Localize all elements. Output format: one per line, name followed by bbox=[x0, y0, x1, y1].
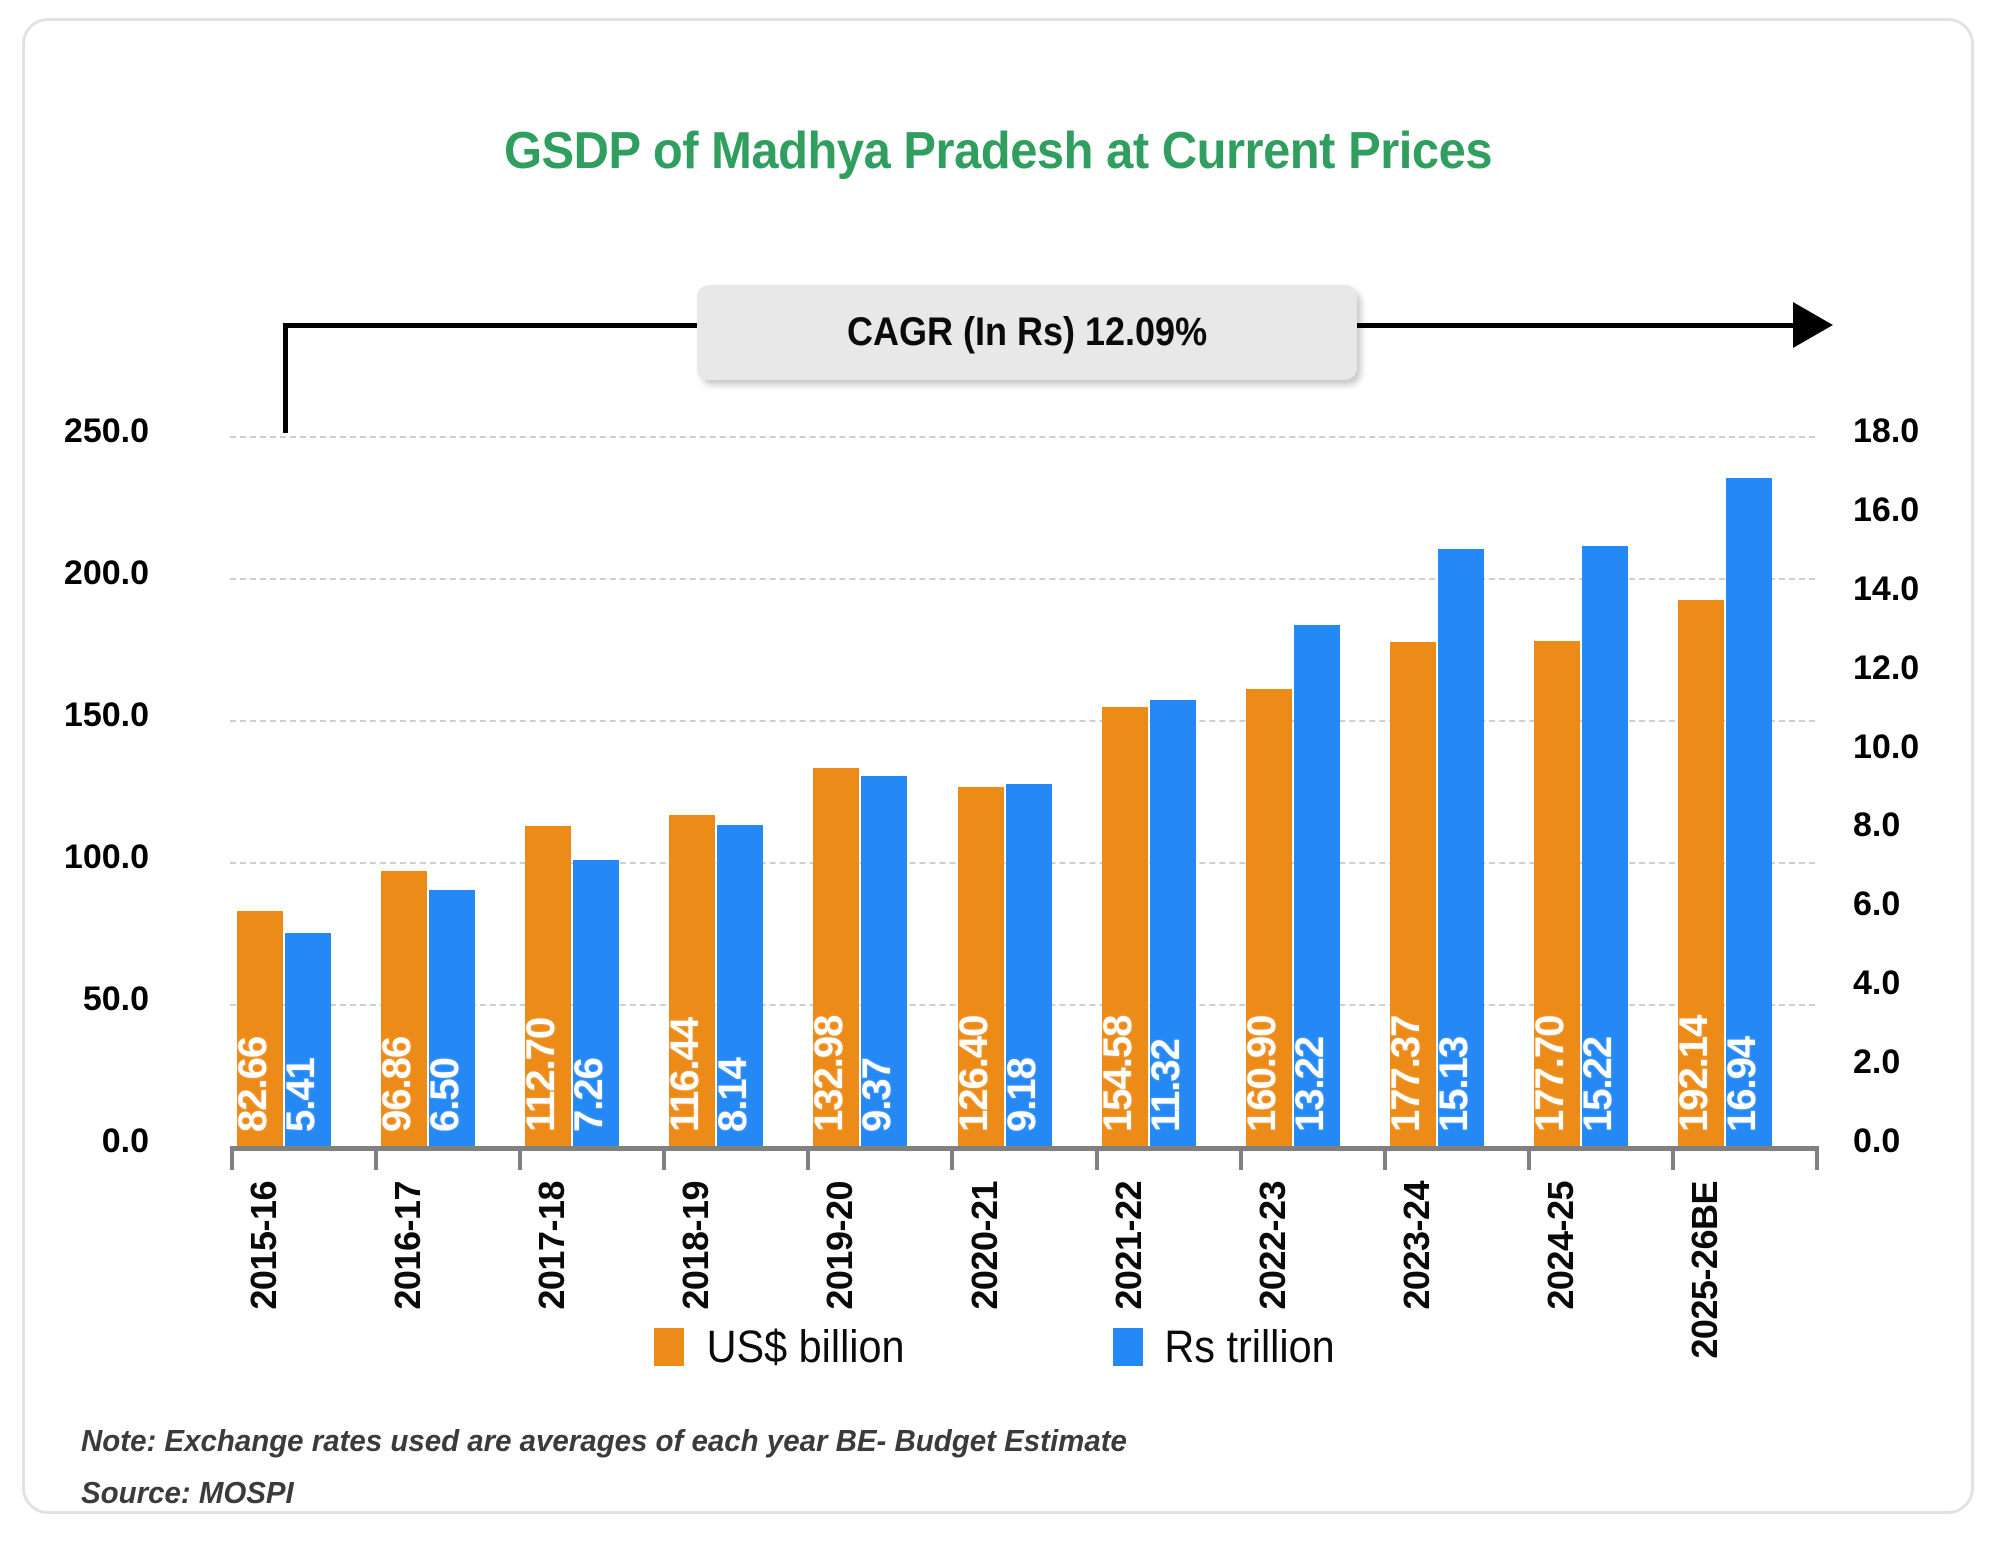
bar-value-label: 6.50 bbox=[423, 1058, 468, 1132]
bar-usd[interactable]: 177.37 bbox=[1390, 642, 1436, 1146]
bar-value-label: 126.40 bbox=[952, 1016, 997, 1132]
bar-group: 132.989.37 bbox=[813, 436, 907, 1146]
x-axis-tick bbox=[806, 1146, 810, 1170]
bar-group: 126.409.18 bbox=[958, 436, 1052, 1146]
bar-rs[interactable]: 9.18 bbox=[1006, 784, 1052, 1146]
bar-value-label: 160.90 bbox=[1240, 1016, 1285, 1132]
bar-value-label: 16.94 bbox=[1720, 1037, 1765, 1132]
bar-rs[interactable]: 11.32 bbox=[1150, 700, 1196, 1147]
y-axis-left-tick-label: 50.0 bbox=[83, 980, 149, 1019]
bar-group: 177.3715.13 bbox=[1390, 436, 1484, 1146]
x-axis-tick bbox=[374, 1146, 378, 1170]
y-axis-right-tick-label: 0.0 bbox=[1853, 1122, 1900, 1161]
bar-group: 177.7015.22 bbox=[1534, 436, 1628, 1146]
bar-value-label: 96.86 bbox=[375, 1037, 420, 1132]
footnote-source: Source: MOSPI bbox=[81, 1475, 1127, 1511]
x-axis-tick-label: 2016-17 bbox=[387, 1181, 433, 1310]
y-axis-right-tick-label: 6.0 bbox=[1853, 885, 1900, 924]
bar-rs[interactable]: 6.50 bbox=[429, 890, 475, 1146]
bar-group: 112.707.26 bbox=[525, 436, 619, 1146]
bar-group: 192.1416.94 bbox=[1678, 436, 1772, 1146]
bar-group: 82.665.41 bbox=[237, 436, 331, 1146]
y-axis-left-tick-label: 200.0 bbox=[64, 554, 149, 593]
bar-rs[interactable]: 15.13 bbox=[1438, 549, 1484, 1146]
bar-value-label: 112.70 bbox=[519, 1018, 564, 1132]
legend-item-usd[interactable]: US$ billion bbox=[654, 1321, 913, 1373]
y-axis-right-tick-label: 4.0 bbox=[1853, 964, 1900, 1003]
chart-card: GSDP of Madhya Pradesh at Current Prices… bbox=[22, 18, 1974, 1514]
x-axis-tick-label: 2022-23 bbox=[1252, 1181, 1298, 1310]
bar-rs[interactable]: 7.26 bbox=[573, 860, 619, 1146]
footnote-note: Note: Exchange rates used are averages o… bbox=[81, 1423, 1127, 1459]
y-axis-right-tick-label: 18.0 bbox=[1853, 412, 1919, 451]
bar-value-label: 5.41 bbox=[279, 1058, 324, 1132]
bar-usd[interactable]: 160.90 bbox=[1246, 689, 1292, 1146]
y-axis-left-tick-label: 100.0 bbox=[64, 838, 149, 877]
legend-item-rs[interactable]: Rs trillion bbox=[1113, 1321, 1342, 1373]
bar-group: 160.9013.22 bbox=[1246, 436, 1340, 1146]
bar-value-label: 192.14 bbox=[1672, 1016, 1717, 1132]
footer: Note: Exchange rates used are averages o… bbox=[81, 1423, 1182, 1527]
bar-group: 96.866.50 bbox=[381, 436, 475, 1146]
bar-value-label: 9.18 bbox=[1000, 1058, 1045, 1132]
y-axis-right-tick-label: 10.0 bbox=[1853, 728, 1919, 767]
y-axis-right-tick-label: 2.0 bbox=[1853, 1043, 1900, 1082]
x-axis-tick bbox=[1239, 1146, 1243, 1170]
x-axis-line bbox=[230, 1146, 1817, 1151]
y-axis-left-tick-label: 0.0 bbox=[102, 1122, 149, 1161]
y-axis-right-tick-label: 16.0 bbox=[1853, 491, 1919, 530]
bar-usd[interactable]: 154.58 bbox=[1102, 707, 1148, 1146]
bar-value-label: 177.70 bbox=[1528, 1016, 1573, 1132]
x-axis-tick-label: 2021-22 bbox=[1108, 1181, 1154, 1310]
y-axis-right-tick-label: 14.0 bbox=[1853, 570, 1919, 609]
x-axis-tick-label: 2020-21 bbox=[964, 1181, 1010, 1310]
bar-value-label: 8.14 bbox=[711, 1058, 756, 1132]
bar-value-label: 9.37 bbox=[855, 1058, 900, 1132]
legend-label-rs: Rs trillion bbox=[1164, 1321, 1334, 1373]
x-axis-tick-label: 2017-18 bbox=[531, 1181, 577, 1310]
bar-value-label: 15.13 bbox=[1432, 1037, 1477, 1132]
bar-usd[interactable]: 96.86 bbox=[381, 871, 427, 1146]
x-axis-tick bbox=[1527, 1146, 1531, 1170]
bar-group: 154.5811.32 bbox=[1102, 436, 1196, 1146]
plot-area: 82.665.4196.866.50112.707.26116.448.1413… bbox=[230, 436, 1815, 1146]
bar-rs[interactable]: 15.22 bbox=[1582, 546, 1628, 1146]
bar-rs[interactable]: 5.41 bbox=[285, 933, 331, 1146]
x-axis-tick-label: 2018-19 bbox=[675, 1181, 721, 1310]
bar-rs[interactable]: 9.37 bbox=[861, 776, 907, 1146]
bar-usd[interactable]: 116.44 bbox=[669, 815, 715, 1146]
bar-value-label: 116.44 bbox=[663, 1018, 708, 1132]
y-axis-left-tick-label: 250.0 bbox=[64, 412, 149, 451]
y-axis-right-tick-label: 8.0 bbox=[1853, 806, 1900, 845]
x-axis-tick bbox=[230, 1146, 234, 1170]
y-axis-right-tick-label: 12.0 bbox=[1853, 649, 1919, 688]
x-axis-tick bbox=[950, 1146, 954, 1170]
cagr-label: CAGR (In Rs) 12.09% bbox=[847, 310, 1207, 355]
legend-swatch-usd bbox=[654, 1328, 684, 1366]
chart-legend: US$ billion Rs trillion bbox=[25, 1321, 1971, 1373]
bar-value-label: 154.58 bbox=[1096, 1016, 1141, 1132]
bar-value-label: 15.22 bbox=[1576, 1037, 1621, 1132]
page-title: GSDP of Madhya Pradesh at Current Prices bbox=[83, 121, 1912, 181]
bar-value-label: 11.32 bbox=[1144, 1039, 1189, 1132]
x-axis-tick-label: 2025-26BE bbox=[1684, 1181, 1730, 1359]
legend-swatch-rs bbox=[1113, 1328, 1143, 1366]
bar-rs[interactable]: 8.14 bbox=[717, 825, 763, 1146]
bar-usd[interactable]: 192.14 bbox=[1678, 600, 1724, 1146]
x-axis-tick bbox=[1815, 1146, 1819, 1170]
x-axis-tick bbox=[662, 1146, 666, 1170]
bar-usd[interactable]: 82.66 bbox=[237, 911, 283, 1146]
bar-rs[interactable]: 13.22 bbox=[1294, 625, 1340, 1146]
bar-rs[interactable]: 16.94 bbox=[1726, 478, 1772, 1146]
bar-usd[interactable]: 177.70 bbox=[1534, 641, 1580, 1146]
bar-usd[interactable]: 112.70 bbox=[525, 826, 571, 1146]
x-axis-tick-label: 2023-24 bbox=[1396, 1181, 1442, 1310]
x-axis-tick-label: 2024-25 bbox=[1540, 1181, 1586, 1310]
arrow-right-icon bbox=[1793, 302, 1833, 348]
y-axis-left-tick-label: 150.0 bbox=[64, 696, 149, 735]
bar-value-label: 7.26 bbox=[567, 1058, 612, 1132]
x-axis-tick bbox=[1095, 1146, 1099, 1170]
x-axis-tick-label: 2019-20 bbox=[819, 1181, 865, 1310]
x-axis-tick-label: 2015-16 bbox=[243, 1181, 289, 1310]
bar-value-label: 132.98 bbox=[807, 1016, 852, 1132]
bar-usd[interactable]: 126.40 bbox=[958, 787, 1004, 1146]
legend-label-usd: US$ billion bbox=[707, 1321, 905, 1373]
bar-usd[interactable]: 132.98 bbox=[813, 768, 859, 1146]
cagr-bracket-vertical bbox=[283, 323, 288, 433]
bar-value-label: 13.22 bbox=[1288, 1037, 1333, 1132]
x-axis-tick bbox=[1383, 1146, 1387, 1170]
bar-value-label: 82.66 bbox=[231, 1037, 276, 1132]
bar-value-label: 177.37 bbox=[1384, 1016, 1429, 1132]
x-axis-tick bbox=[518, 1146, 522, 1170]
bar-group: 116.448.14 bbox=[669, 436, 763, 1146]
x-axis-tick bbox=[1671, 1146, 1675, 1170]
cagr-callout: CAGR (In Rs) 12.09% bbox=[697, 285, 1357, 380]
